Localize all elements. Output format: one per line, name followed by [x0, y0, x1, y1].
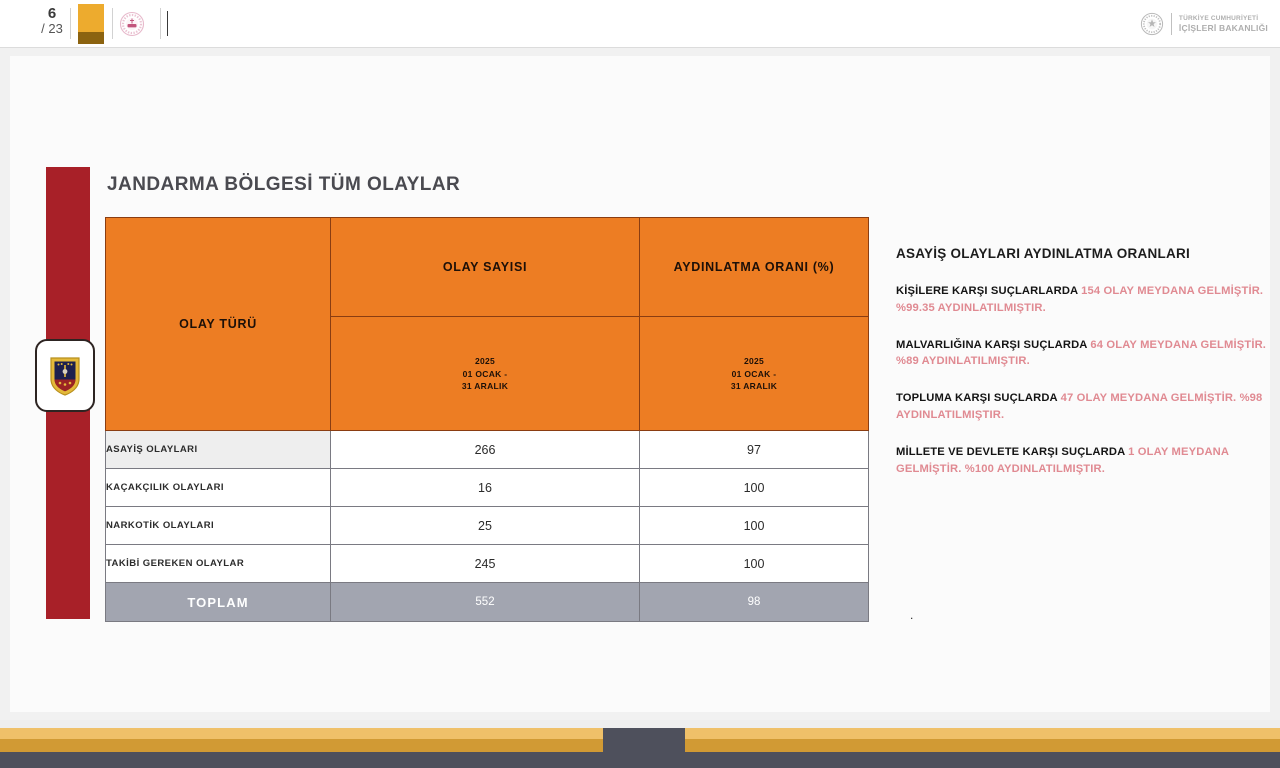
footer-center-notch — [603, 728, 685, 752]
panel-item: MALVARLIĞINA KARŞI SUÇLARDA 64 OLAY MEYD… — [896, 337, 1268, 371]
header-cell-rate-period: 2025 01 OCAK - 31 ARALIK — [640, 317, 869, 431]
total-rate: 98 — [640, 583, 869, 622]
slide-surface: JANDARMA BÖLGESİ TÜM OLAYLAR OLAY TÜRÜ O… — [10, 56, 1270, 712]
row-label: KAÇAKÇILIK OLAYLARI — [106, 469, 331, 507]
ministry-line-1: TÜRKİYE CUMHURİYETİ — [1179, 15, 1268, 23]
ministry-logo: TÜRKİYE CUMHURİYETİ İÇİŞLERİ BAKANLIĞI — [1140, 11, 1268, 37]
row-label: TAKİBİ GEREKEN OLAYLAR — [106, 545, 331, 583]
table-row: KAÇAKÇILIK OLAYLARI 16 100 — [106, 469, 869, 507]
panel-item: KİŞİLERE KARŞI SUÇLARLARDA 154 OLAY MEYD… — [896, 283, 1268, 317]
header-cell-count-period: 2025 01 OCAK - 31 ARALIK — [331, 317, 640, 431]
viewer-toolbar: 6 / 23 — [0, 0, 1280, 48]
table-total-row: TOPLAM 552 98 — [106, 583, 869, 622]
text-caret-icon — [167, 11, 168, 36]
header-cell-type: OLAY TÜRÜ — [106, 218, 331, 431]
panel-item-lead: MALVARLIĞINA KARŞI SUÇLARDA — [896, 339, 1087, 351]
row-rate: 100 — [640, 507, 869, 545]
table-row: ASAYİŞ OLAYLARI 266 97 — [106, 431, 869, 469]
total-page-count: / 23 — [32, 22, 72, 37]
clearance-rates-panel: ASAYİŞ OLAYLARI AYDINLATMA ORANLARI KİŞİ… — [896, 246, 1268, 497]
panel-item-lead: KİŞİLERE KARŞI SUÇLARLARDA — [896, 285, 1081, 297]
incidents-table: OLAY TÜRÜ OLAY SAYISI AYDINLATMA ORANI (… — [105, 217, 869, 622]
total-label: TOPLAM — [106, 583, 331, 622]
stray-mark: . — [910, 608, 913, 622]
panel-item-lead: TOPLUMA KARŞI SUÇLARDA — [896, 392, 1057, 404]
page-counter: 6 / 23 — [32, 5, 72, 37]
row-label: NARKOTİK OLAYLARI — [106, 507, 331, 545]
panel-item-lead: MİLLETE VE DEVLETE KARŞI SUÇLARDA — [896, 446, 1125, 458]
row-count: 16 — [331, 469, 640, 507]
total-count: 552 — [331, 583, 640, 622]
row-rate: 100 — [640, 469, 869, 507]
toolbar-divider-1 — [70, 8, 71, 39]
footer-slate-bar — [0, 752, 1280, 768]
row-count: 266 — [331, 431, 640, 469]
table-header-row-1: OLAY TÜRÜ OLAY SAYISI AYDINLATMA ORANI (… — [106, 218, 869, 317]
turkish-state-seal-icon — [1140, 12, 1164, 36]
gendarmerie-shield-emblem-icon — [35, 339, 95, 412]
table-row: NARKOTİK OLAYLARI 25 100 — [106, 507, 869, 545]
row-label: ASAYİŞ OLAYLARI — [106, 431, 331, 469]
table-row: TAKİBİ GEREKEN OLAYLAR 245 100 — [106, 545, 869, 583]
page-title: JANDARMA BÖLGESİ TÜM OLAYLAR — [107, 174, 460, 196]
slide-thumbnail-icon[interactable] — [78, 4, 104, 44]
row-rate: 100 — [640, 545, 869, 583]
row-count: 245 — [331, 545, 640, 583]
header-cell-rate: AYDINLATMA ORANI (%) — [640, 218, 869, 317]
row-count: 25 — [331, 507, 640, 545]
row-rate: 97 — [640, 431, 869, 469]
header-cell-count: OLAY SAYISI — [331, 218, 640, 317]
current-page-number: 6 — [32, 5, 72, 22]
toolbar-divider-2 — [112, 8, 113, 39]
panel-heading: ASAYİŞ OLAYLARI AYDINLATMA ORANLARI — [896, 246, 1268, 261]
logo-divider — [1171, 13, 1172, 35]
slide-footer-bars — [0, 728, 1280, 768]
ministry-seal-icon[interactable] — [118, 10, 146, 38]
ministry-line-2: İÇİŞLERİ BAKANLIĞI — [1179, 23, 1268, 33]
ministry-logo-text: TÜRKİYE CUMHURİYETİ İÇİŞLERİ BAKANLIĞI — [1179, 15, 1268, 33]
thumbnail-upper — [78, 4, 104, 32]
slide-canvas: JANDARMA BÖLGESİ TÜM OLAYLAR OLAY TÜRÜ O… — [0, 48, 1280, 720]
thumbnail-lower — [78, 32, 104, 44]
toolbar-divider-3 — [160, 8, 161, 39]
presentation-viewer: 6 / 23 — [0, 0, 1280, 720]
panel-item: MİLLETE VE DEVLETE KARŞI SUÇLARDA 1 OLAY… — [896, 444, 1268, 478]
panel-item: TOPLUMA KARŞI SUÇLARDA 47 OLAY MEYDANA G… — [896, 390, 1268, 424]
